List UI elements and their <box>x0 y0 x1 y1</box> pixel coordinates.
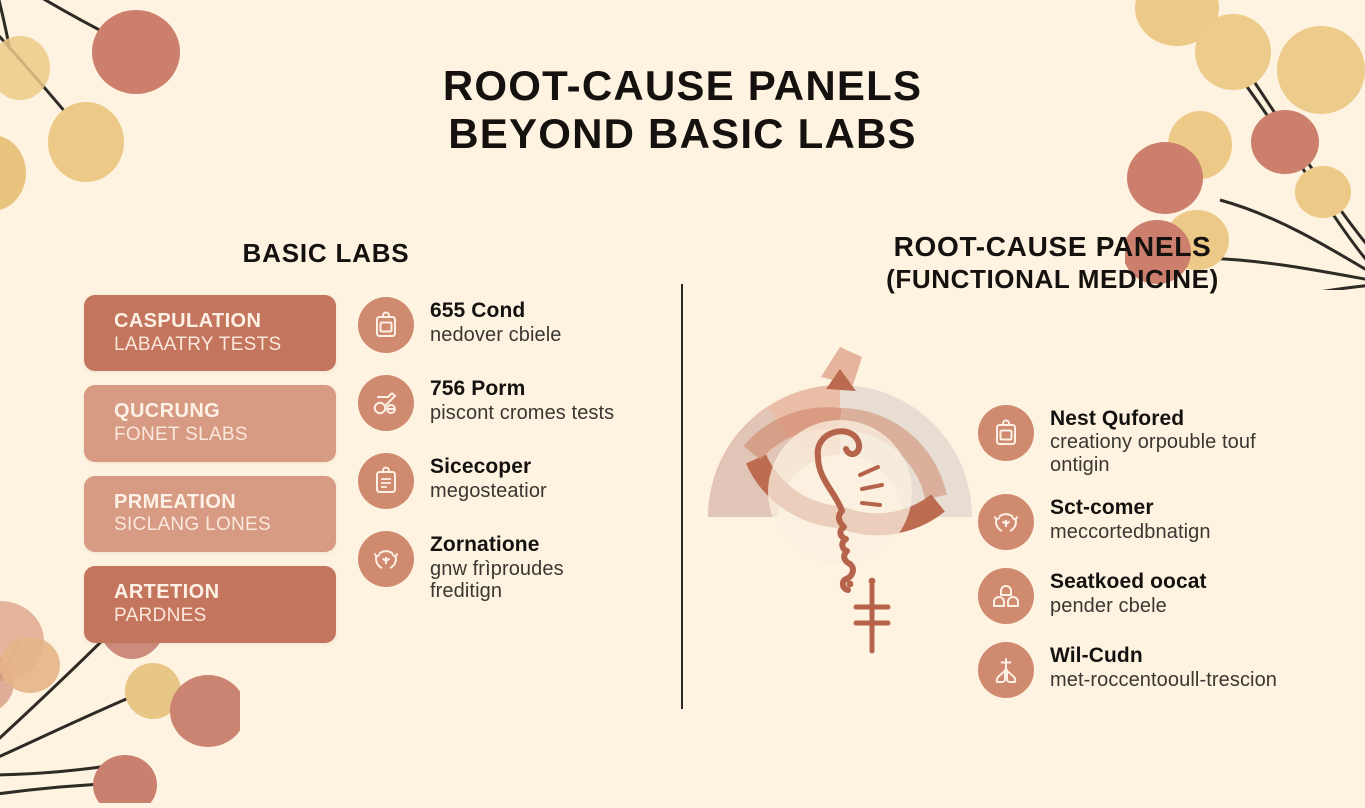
vertical-divider <box>681 284 683 709</box>
page-title: ROOT-CAUSE PANELS BEYOND BASIC LABS <box>0 62 1365 158</box>
list-item-subtitle: piscont cromes tests <box>430 402 614 425</box>
list-item[interactable]: Sct-comer meccortedbnatign <box>978 494 1308 550</box>
root-cause-panels-heading: ROOT-CAUSE PANELS (FUNCTIONAL MEDICINE) <box>700 230 1365 295</box>
lungs-icon <box>978 642 1034 698</box>
list-item-subtitle: creationy orpouble touf ontigin <box>1050 431 1308 476</box>
list-item-subtitle: nedover cbiele <box>430 324 562 347</box>
lab-card-subtitle: SICLANG LONES <box>114 514 336 537</box>
list-item-subtitle: megosteatior <box>430 480 547 503</box>
list-item[interactable]: Seatkoed oocat pender cbele <box>978 568 1308 624</box>
root-cause-heading-line-1: ROOT-CAUSE PANELS <box>740 230 1365 264</box>
list-item-subtitle: pender cbele <box>1050 595 1207 618</box>
list-item-title: Nest Qufored <box>1050 407 1308 431</box>
recycle-cycle-icon <box>358 531 414 587</box>
list-item[interactable]: Wil-Cudn met-roccentooull-trescion <box>978 642 1308 698</box>
lab-card-subtitle: PARDNES <box>114 605 336 628</box>
basic-labs-detail-list: 655 Cond nedover cbiele 756 Porm <box>358 295 628 657</box>
medical-caduceus-ring-emblem <box>690 307 990 672</box>
clipboard-icon <box>978 405 1034 461</box>
lab-card-title: CASPULATION <box>114 310 336 334</box>
list-item-subtitle: meccortedbnatign <box>1050 521 1211 544</box>
root-cause-heading-line-2: (FUNCTIONAL MEDICINE) <box>740 264 1365 295</box>
list-item[interactable]: Zornatione gnw frìproudes freditign <box>358 531 628 603</box>
root-cause-panels-panel: ROOT-CAUSE PANELS (FUNCTIONAL MEDICINE) <box>700 230 1365 717</box>
lab-card[interactable]: QUCRUNG FONET SLABS <box>84 385 336 461</box>
list-item[interactable]: Nest Qufored creationy orpouble touf ont… <box>978 405 1308 477</box>
list-item-title: Wil-Cudn <box>1050 644 1277 668</box>
page-title-line-1: ROOT-CAUSE PANELS <box>0 62 1365 110</box>
list-item-title: Sicecoper <box>430 455 547 479</box>
lab-card[interactable]: ARTETION PARDNES <box>84 566 336 642</box>
recycle-cycle-icon <box>978 494 1034 550</box>
lab-card-title: QUCRUNG <box>114 400 336 424</box>
clipboard-icon <box>358 297 414 353</box>
lab-card-subtitle: FONET SLABS <box>114 424 336 447</box>
lab-card[interactable]: CASPULATION LABAATRY TESTS <box>84 295 336 371</box>
root-cause-detail-list: Nest Qufored creationy orpouble touf ont… <box>978 403 1308 717</box>
molecule-cluster-icon <box>978 568 1034 624</box>
list-item-subtitle: gnw frìproudes freditign <box>430 558 628 603</box>
list-item-title: 655 Cond <box>430 299 562 323</box>
page-title-line-2: BEYOND BASIC LABS <box>0 110 1365 158</box>
basic-labs-heading: BASIC LABS <box>0 238 660 269</box>
lab-card-title: ARTETION <box>114 581 336 605</box>
list-item[interactable]: 756 Porm piscont cromes tests <box>358 375 628 431</box>
lab-card-subtitle: LABAATRY TESTS <box>114 334 336 357</box>
basic-labs-panel: BASIC LABS CASPULATION LABAATRY TESTS QU… <box>0 238 660 657</box>
list-item-title: Zornatione <box>430 533 628 557</box>
list-item-title: 756 Porm <box>430 377 614 401</box>
list-item[interactable]: 655 Cond nedover cbiele <box>358 297 628 353</box>
list-item-subtitle: met-roccentooull-trescion <box>1050 669 1277 692</box>
checklist-icon <box>358 453 414 509</box>
list-item-title: Seatkoed oocat <box>1050 570 1207 594</box>
basic-labs-card-list: CASPULATION LABAATRY TESTS QUCRUNG FONET… <box>84 295 336 657</box>
microscope-icon <box>358 375 414 431</box>
lab-card-title: PRMEATION <box>114 491 336 515</box>
list-item-title: Sct-comer <box>1050 496 1211 520</box>
lab-card[interactable]: PRMEATION SICLANG LONES <box>84 476 336 552</box>
list-item[interactable]: Sicecoper megosteatior <box>358 453 628 509</box>
